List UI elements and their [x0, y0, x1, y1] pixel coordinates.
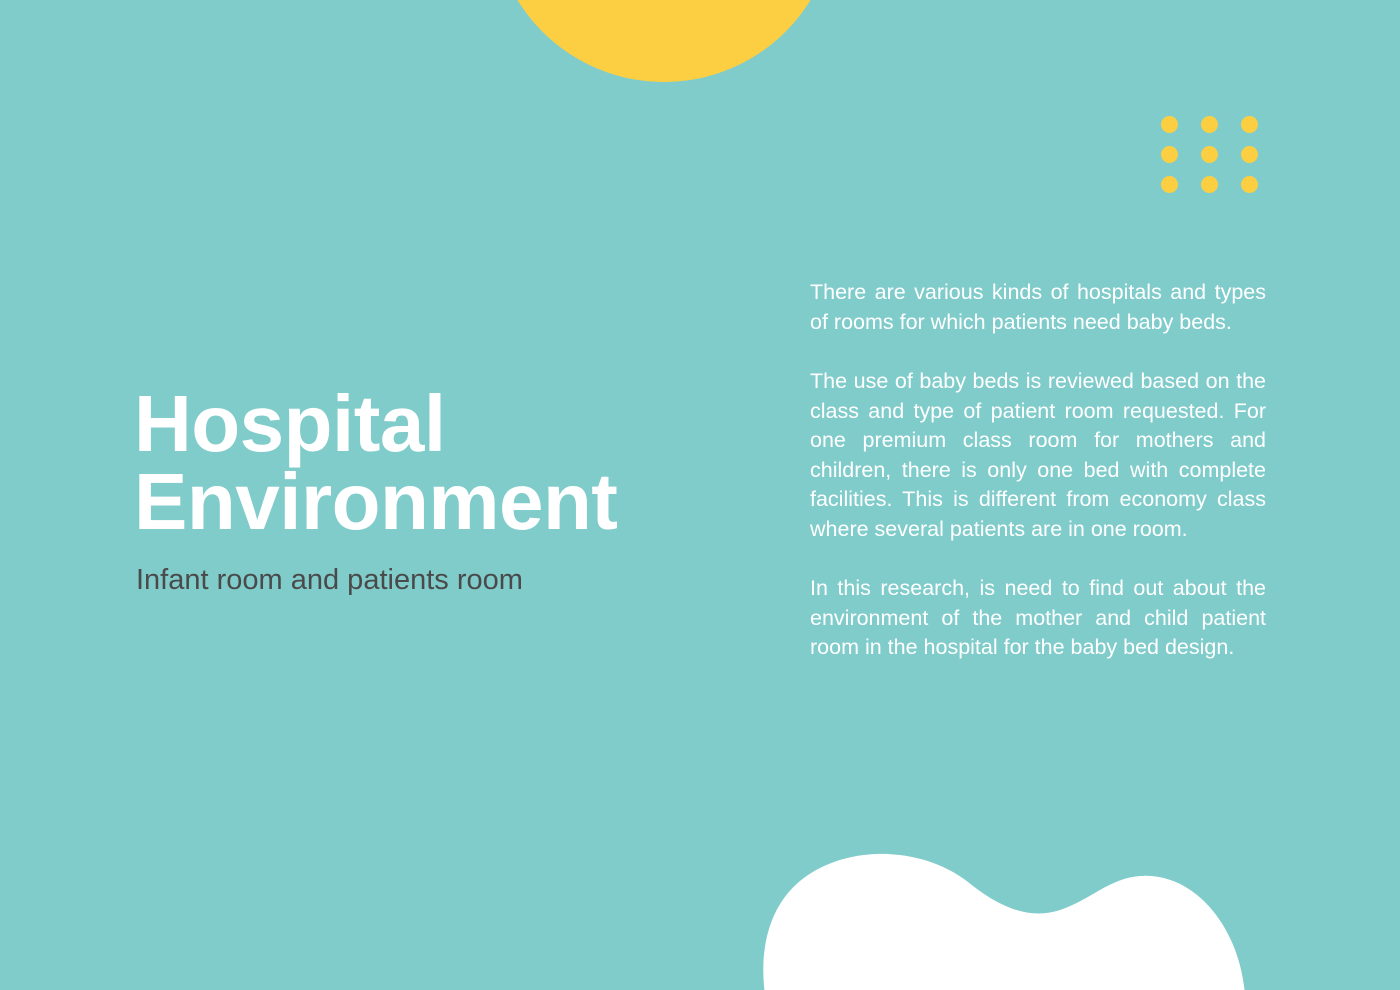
yellow-semicircle-decoration: [492, 0, 836, 82]
page-subtitle: Infant room and patients room: [136, 564, 754, 597]
dot-icon: [1241, 146, 1258, 163]
body-text-column: There are various kinds of hospitals and…: [810, 278, 1266, 663]
slide-canvas: Hospital Environment Infant room and pat…: [0, 0, 1400, 990]
body-paragraph-3: In this research, is need to find out ab…: [810, 574, 1266, 663]
page-title: Hospital Environment: [134, 385, 754, 542]
body-paragraph-1: There are various kinds of hospitals and…: [810, 278, 1266, 337]
dot-icon: [1161, 116, 1178, 133]
dot-icon: [1241, 116, 1258, 133]
title-block: Hospital Environment Infant room and pat…: [134, 385, 754, 597]
white-cloud-blob-decoration: [0, 820, 1400, 990]
dot-icon: [1161, 146, 1178, 163]
dot-icon: [1201, 146, 1218, 163]
dot-icon: [1201, 116, 1218, 133]
dot-icon: [1241, 176, 1258, 193]
dot-icon: [1201, 176, 1218, 193]
body-paragraph-2: The use of baby beds is reviewed based o…: [810, 367, 1266, 544]
dot-icon: [1161, 176, 1178, 193]
yellow-dot-grid-decoration: [1161, 116, 1258, 193]
